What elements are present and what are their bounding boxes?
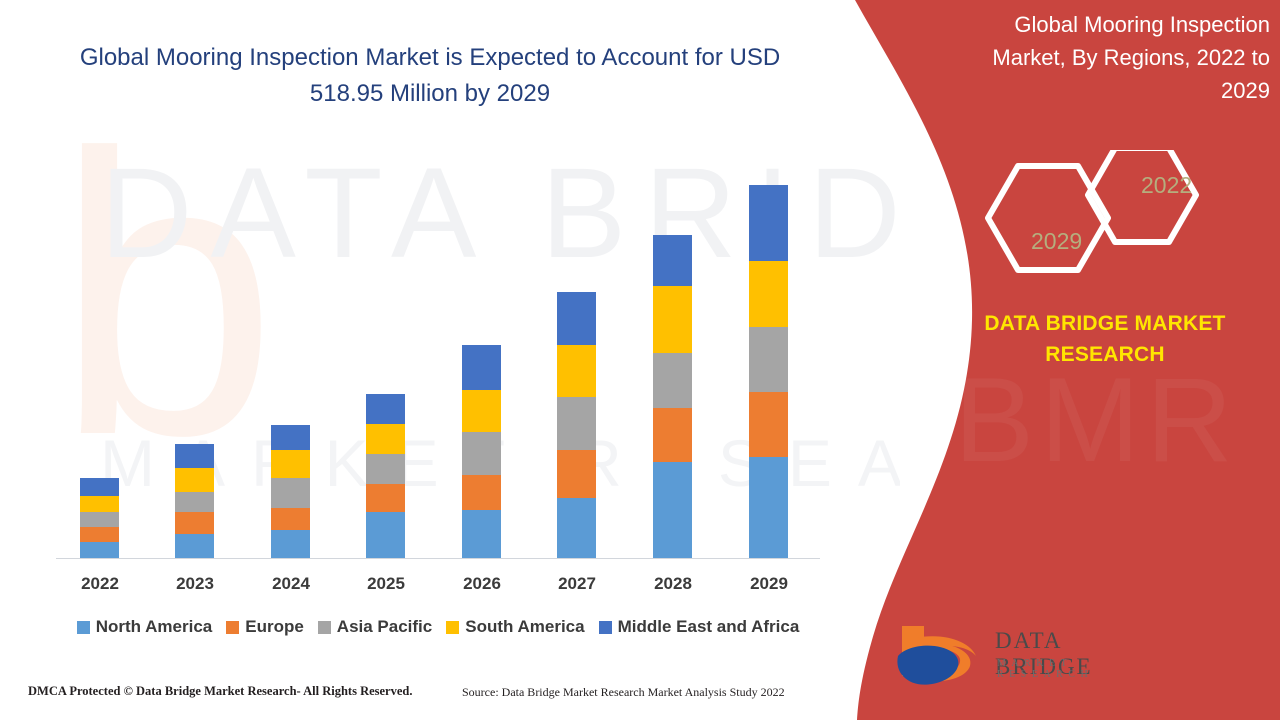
x-axis-label-2027: 2027 [547, 574, 607, 594]
bar-segment-middle-east-africa [175, 444, 214, 468]
legend-item-asia-pacific[interactable]: Asia Pacific [318, 617, 432, 637]
bar-segment-asia-pacific [462, 432, 501, 475]
bar-segment-asia-pacific [653, 353, 692, 408]
bar-segment-asia-pacific [175, 492, 214, 512]
hexagon-2022-label: 2022 [1141, 172, 1192, 199]
bar-segment-north-america [271, 530, 310, 558]
panel-watermark: DBMR [820, 360, 1280, 480]
legend-item-south-america[interactable]: South America [446, 617, 584, 637]
legend-label: Middle East and Africa [618, 617, 800, 637]
bar-segment-north-america [80, 542, 119, 558]
chart-legend: North AmericaEuropeAsia PacificSouth Ame… [56, 617, 820, 637]
bar-segment-north-america [557, 498, 596, 558]
legend-swatch-icon [318, 621, 331, 634]
logo-mark-icon [890, 618, 990, 688]
bar-segment-europe [653, 408, 692, 462]
bar-segment-south-america [749, 261, 788, 327]
brand-line-1: DATA BRIDGE MARKET [984, 312, 1225, 335]
bar-segment-north-america [653, 462, 692, 558]
red-panel-content: DBMR Global Mooring Inspection Market, B… [860, 0, 1280, 720]
brand-line-2: RESEARCH [1045, 343, 1164, 366]
x-axis-label-2024: 2024 [261, 574, 321, 594]
bar-segment-europe [80, 527, 119, 542]
legend-swatch-icon [226, 621, 239, 634]
bar-segment-north-america [366, 512, 405, 558]
bar-segment-asia-pacific [80, 512, 119, 527]
infographic-canvas: b DATA BRIDGE MARKET RESEARCH Global Moo… [0, 0, 1280, 720]
bar-segment-asia-pacific [749, 327, 788, 392]
x-axis-label-2023: 2023 [165, 574, 225, 594]
x-axis-label-2028: 2028 [643, 574, 703, 594]
bar-segment-south-america [366, 424, 405, 454]
panel-title: Global Mooring Inspection Market, By Reg… [960, 8, 1270, 107]
legend-label: Asia Pacific [337, 617, 432, 637]
bar-segment-south-america [175, 468, 214, 492]
logo-tagline: MARKET RESEARCH [997, 658, 1140, 680]
bar-segment-middle-east-africa [366, 394, 405, 424]
bar-segment-south-america [653, 286, 692, 353]
bar-segment-europe [749, 392, 788, 457]
bar-segment-south-america [80, 496, 119, 512]
bar-segment-south-america [271, 450, 310, 478]
bar-segment-middle-east-africa [557, 292, 596, 345]
bar-segment-middle-east-africa [653, 235, 692, 286]
copyright-notice: DMCA Protected © Data Bridge Market Rese… [28, 684, 413, 699]
bar-segment-asia-pacific [271, 478, 310, 508]
bar-segment-south-america [557, 345, 596, 397]
bar-segment-asia-pacific [366, 454, 405, 484]
bar-segment-europe [175, 512, 214, 534]
bar-segment-north-america [749, 457, 788, 558]
bar-segment-europe [271, 508, 310, 530]
x-axis-line [56, 558, 820, 559]
legend-swatch-icon [446, 621, 459, 634]
hexagon-outlines-svg [970, 150, 1270, 285]
bar-segment-south-america [462, 390, 501, 432]
hexagon-2029-label: 2029 [1031, 228, 1082, 255]
hexagon-badges: 2022 2029 [970, 150, 1270, 285]
bar-segment-middle-east-africa [80, 478, 119, 496]
legend-label: North America [96, 617, 213, 637]
legend-swatch-icon [77, 621, 90, 634]
legend-item-middle-east-and-africa[interactable]: Middle East and Africa [599, 617, 800, 637]
bar-segment-north-america [462, 510, 501, 558]
chart-pane: b DATA BRIDGE MARKET RESEARCH Global Moo… [0, 0, 900, 720]
bar-segment-europe [462, 475, 501, 510]
x-axis-label-2022: 2022 [70, 574, 130, 594]
bar-segment-middle-east-africa [462, 345, 501, 390]
bar-segment-europe [366, 484, 405, 512]
company-logo: DATA BRIDGE MARKET RESEARCH [890, 618, 1140, 696]
legend-label: Europe [245, 617, 304, 637]
x-axis-label-2025: 2025 [356, 574, 416, 594]
brand-name: DATA BRIDGE MARKET RESEARCH [940, 308, 1270, 370]
legend-swatch-icon [599, 621, 612, 634]
legend-item-europe[interactable]: Europe [226, 617, 304, 637]
bar-segment-north-america [175, 534, 214, 558]
bar-segment-europe [557, 450, 596, 498]
bar-segment-middle-east-africa [749, 185, 788, 261]
bar-segment-asia-pacific [557, 397, 596, 450]
bar-chart-plot: 20222023202420252026202720282029 [0, 0, 900, 720]
legend-item-north-america[interactable]: North America [77, 617, 213, 637]
source-note: Source: Data Bridge Market Research Mark… [462, 685, 785, 700]
legend-label: South America [465, 617, 584, 637]
x-axis-label-2029: 2029 [739, 574, 799, 594]
bar-segment-middle-east-africa [271, 425, 310, 450]
x-axis-label-2026: 2026 [452, 574, 512, 594]
